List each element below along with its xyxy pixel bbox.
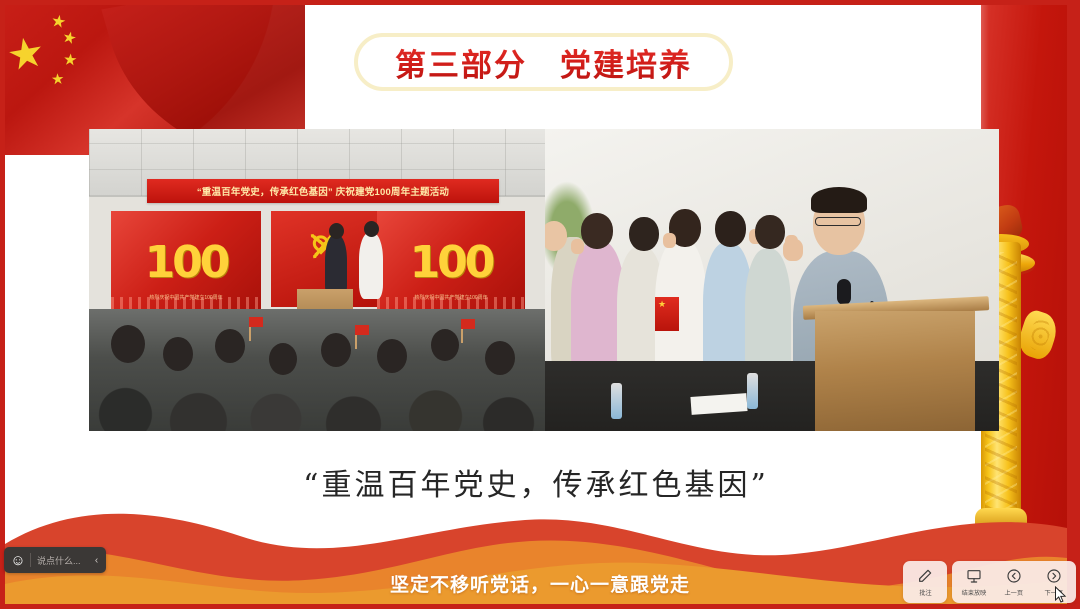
- photo-presenter-hair: [811, 187, 867, 213]
- smiley-icon[interactable]: ☺: [6, 548, 30, 572]
- annotate-group: 批注: [903, 561, 947, 603]
- photo-meeting-room: 100 热烈庆祝中国共产党建立100周年 100 热烈庆祝中国共产党建立100周…: [89, 129, 545, 431]
- photo-small-red-flag: [655, 297, 679, 331]
- section-title-pill: 第三部分 党建培养: [354, 33, 733, 91]
- photo-raised-fist: [571, 239, 584, 254]
- photo-led-screen-left: 100 热烈庆祝中国共产党建立100周年: [111, 211, 261, 319]
- presentation-slide-viewer: ★ ★ ★ ★ ★ 第三部分 党建培养: [0, 0, 1080, 609]
- photo-event-banner-text: “重温百年党史，传承红色基因” 庆祝建党100周年主题活动: [197, 184, 449, 198]
- next-page-label: 下一页: [1045, 587, 1064, 597]
- prev-page-button[interactable]: 上一页: [994, 565, 1034, 599]
- photo-water-bottle: [611, 383, 622, 419]
- photo-attendee-head: [581, 213, 613, 249]
- projector-screen-icon: [965, 567, 983, 585]
- pencil-icon: [916, 567, 934, 585]
- flag-star-small-3-icon: ★: [62, 52, 78, 69]
- end-show-label: 结束放映: [962, 587, 987, 597]
- presentation-controls: 批注 结束放映 上一页: [903, 561, 1076, 603]
- photo-100-left: 100: [145, 237, 228, 288]
- page-title: 第三部分 党建培养: [395, 40, 692, 85]
- slide-canvas: ★ ★ ★ ★ ★ 第三部分 党建培养: [5, 5, 1067, 604]
- chevron-right-circle-icon: [1045, 567, 1063, 585]
- photo-attendee-head: [755, 215, 785, 249]
- photo-event-banner: “重温百年党史，传承红色基因” 庆祝建党100周年主题活动: [147, 179, 499, 203]
- photo-handheld-flag: [249, 317, 263, 327]
- photo-led-screen-right: 100 热烈庆祝中国共产党建立100周年: [377, 211, 525, 319]
- photo-speaker-1-head: [329, 223, 344, 239]
- photo-audience-head: [111, 325, 145, 363]
- photo-handheld-flag: [355, 325, 369, 335]
- prev-page-label: 上一页: [1005, 587, 1024, 597]
- annotate-button[interactable]: 批注: [905, 565, 945, 599]
- end-show-button[interactable]: 结束放映: [954, 565, 994, 599]
- photo-handheld-mic-icon: [837, 279, 851, 305]
- photo-collage: 100 热烈庆祝中国共产党建立100周年 100 热烈庆祝中国共产党建立100周…: [89, 129, 999, 431]
- photo-speaker-2-head: [364, 221, 379, 237]
- photo-raised-fist: [663, 233, 676, 248]
- photo-audience-head: [377, 339, 407, 373]
- photo-audience-chairs: [89, 313, 545, 431]
- photo-presenter-raised-fist: [783, 239, 803, 261]
- next-page-button[interactable]: 下一页: [1034, 565, 1074, 599]
- photo-100-right: 100: [410, 237, 493, 288]
- annotate-label: 批注: [919, 587, 931, 597]
- navigation-group: 结束放映 上一页 下一页: [952, 561, 1076, 603]
- photo-speaker-2: [359, 233, 383, 299]
- photo-audience-head: [269, 343, 297, 375]
- photo-audience-head: [163, 337, 193, 371]
- photo-attendee-head: [715, 211, 746, 247]
- photo-oath-ceremony: [545, 129, 999, 431]
- slide-red-frame: ★ ★ ★ ★ ★ 第三部分 党建培养: [0, 0, 1080, 609]
- photo-audience-head: [215, 329, 245, 363]
- chevron-left-icon[interactable]: ‹: [89, 555, 104, 566]
- photo-lectern: [815, 311, 975, 431]
- photo-audience-head: [485, 341, 515, 375]
- chat-input[interactable]: 说点什么...: [31, 554, 89, 567]
- chevron-left-circle-icon: [1005, 567, 1023, 585]
- photo-audience-head: [321, 333, 351, 367]
- flag-star-small-4-icon: ★: [50, 72, 64, 88]
- chat-input-bar[interactable]: ☺ 说点什么... ‹: [4, 547, 106, 573]
- flag-star-large-icon: ★: [5, 30, 48, 78]
- photo-audience-head: [431, 329, 459, 361]
- photo-handheld-flag: [461, 319, 475, 329]
- photo-water-bottle: [747, 373, 758, 409]
- photo-presenter-glasses-icon: [815, 217, 861, 226]
- photo-attendee-head: [629, 217, 659, 251]
